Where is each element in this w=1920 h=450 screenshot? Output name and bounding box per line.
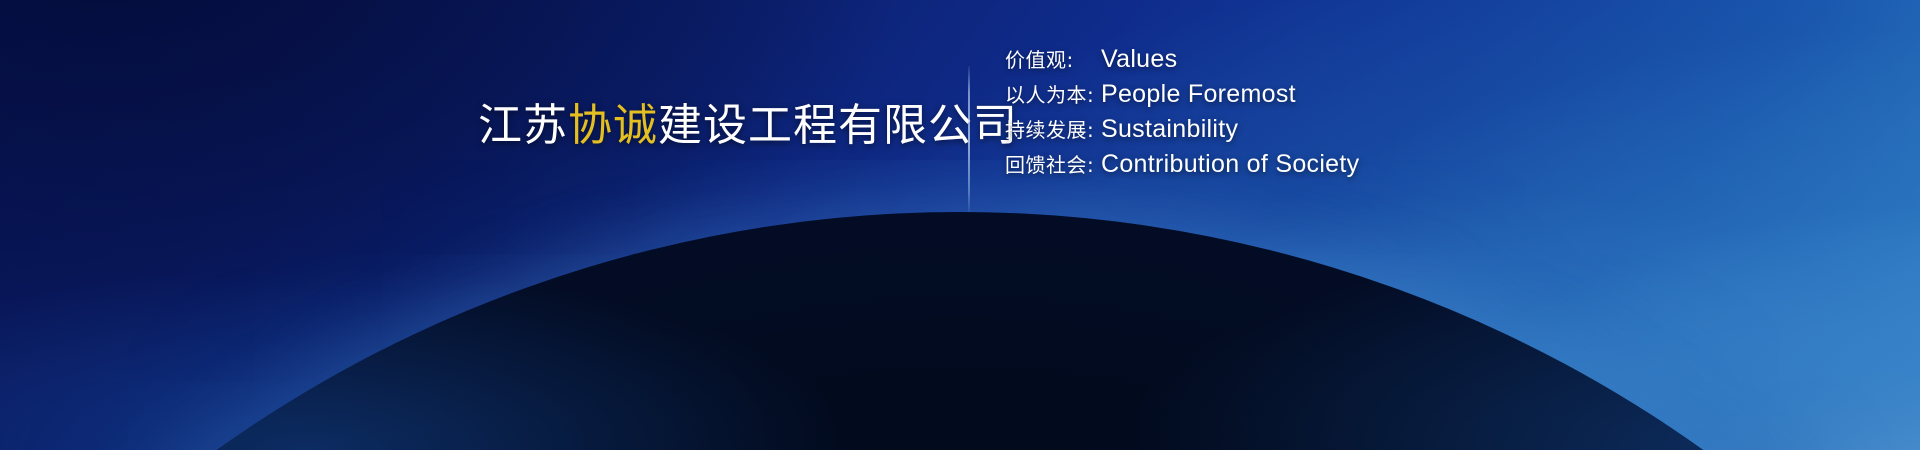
value-row: 以人为本: People Foremost xyxy=(1005,79,1359,114)
value-row: 回馈社会: Contribution of Society xyxy=(1005,149,1359,184)
value-row: 价值观: Values xyxy=(1005,44,1359,79)
value-label: 回馈社会: xyxy=(1005,149,1101,178)
globe-image xyxy=(0,160,1920,450)
value-label: 持续发展: xyxy=(1005,114,1101,143)
company-title-prefix: 江苏 xyxy=(478,100,568,151)
value-label: 价值观: xyxy=(1005,44,1101,73)
value-text: Sustainbility xyxy=(1101,115,1238,144)
value-row: 持续发展: Sustainbility xyxy=(1005,114,1359,149)
value-label: 以人为本: xyxy=(1005,79,1101,108)
values-block: 价值观: Values 以人为本: People Foremost 持续发展: … xyxy=(1005,44,1359,184)
company-title: 江苏协诚建设工程有限公司 xyxy=(478,104,1018,148)
value-text: Contribution of Society xyxy=(1101,150,1359,179)
company-title-suffix: 建设工程有限公司 xyxy=(658,100,1018,151)
company-title-highlight: 协诚 xyxy=(568,100,658,151)
hero-banner: 江苏协诚建设工程有限公司 价值观: Values 以人为本: People Fo… xyxy=(0,0,1920,450)
value-text: Values xyxy=(1101,45,1177,74)
vertical-divider xyxy=(968,66,970,212)
city-lights-band xyxy=(0,212,1920,450)
value-text: People Foremost xyxy=(1101,80,1296,109)
